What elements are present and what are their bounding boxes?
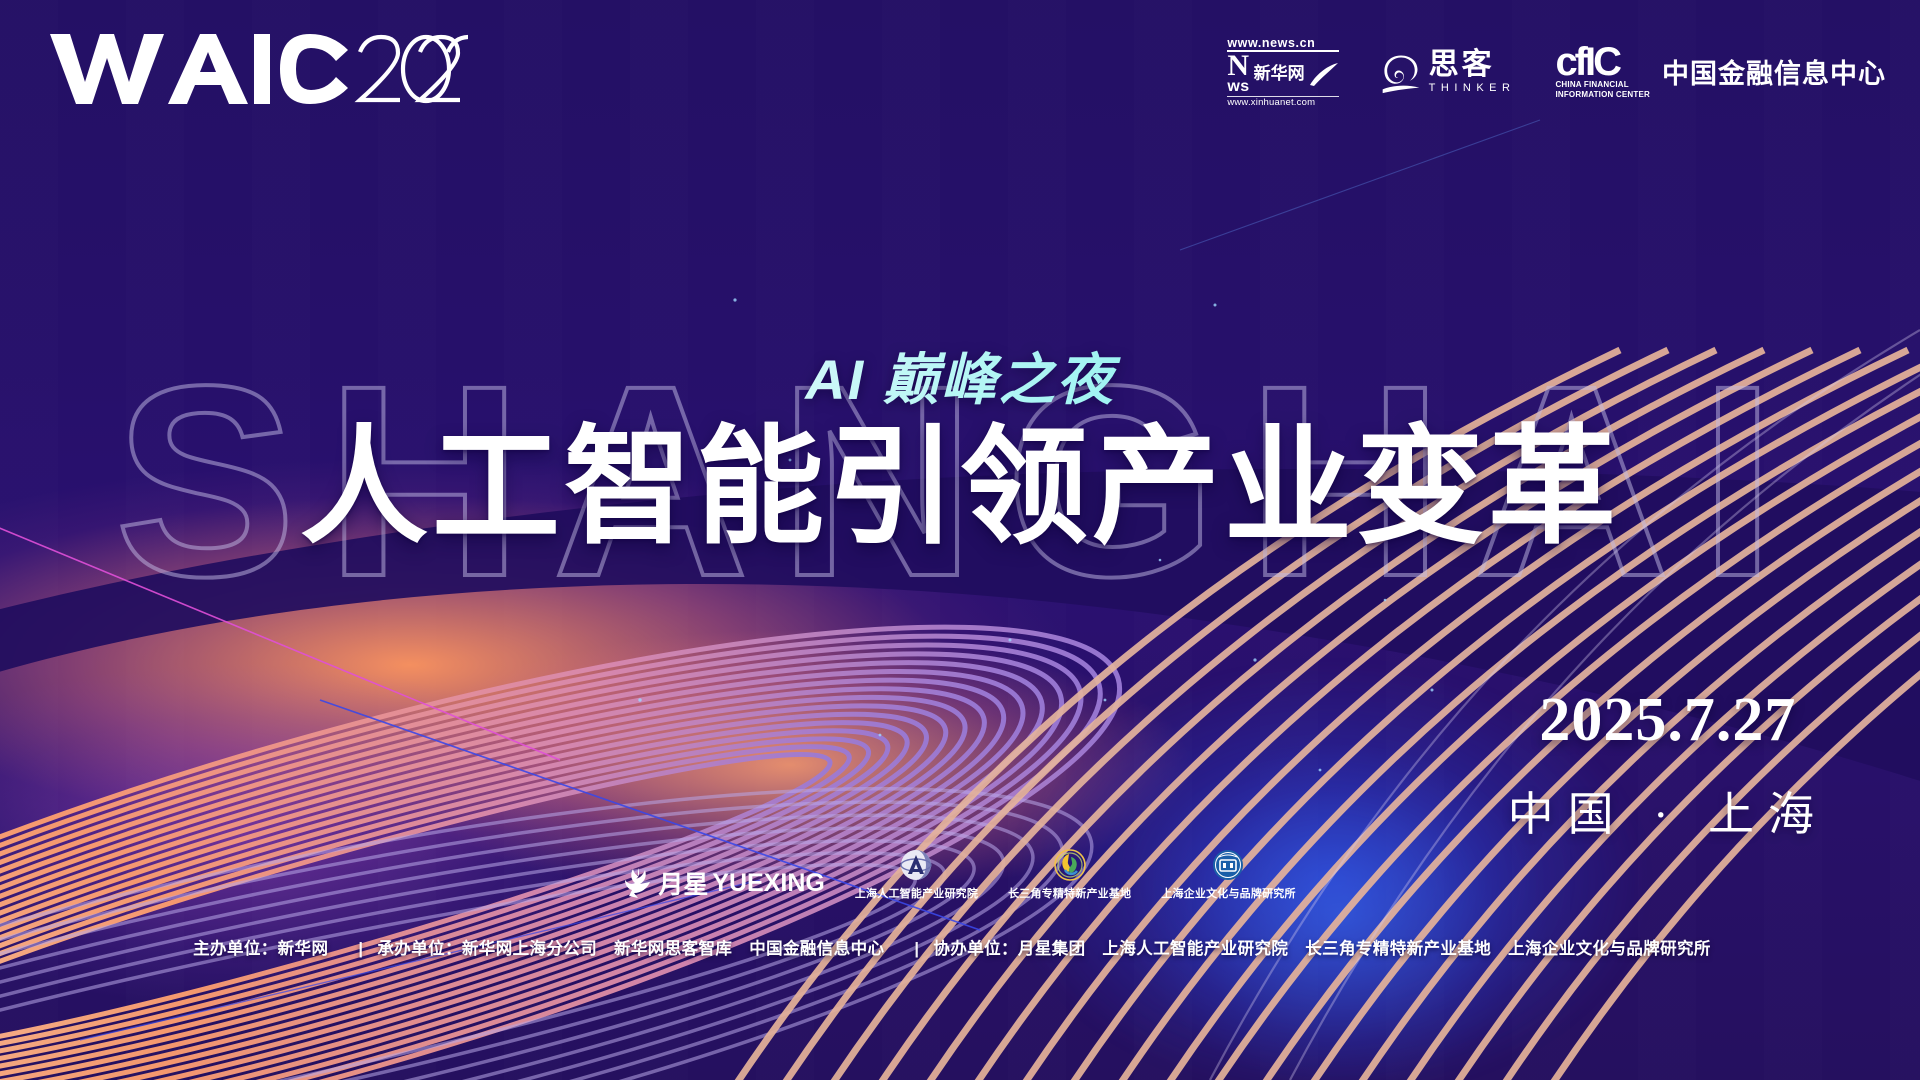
event-headline: 人工智能引领产业变革: [0, 420, 1920, 556]
xinhua-url-bottom: www.xinhuanet.com: [1227, 96, 1338, 108]
xinhua-letter-n: N: [1227, 53, 1249, 79]
credits-host-label: 主办单位：: [193, 940, 278, 958]
sponsor-label: 上海企业文化与品牌研究所: [1161, 885, 1295, 901]
yuexing-english-name: YUEXING: [712, 869, 825, 898]
partner-logo-xinhuanet: www.news.cn N ws 新华网 www.xinhuanet.com: [1227, 36, 1338, 108]
credits-host-value: 新华网: [278, 940, 329, 958]
cfic-english-line1: CHINA FINANCIAL: [1555, 81, 1650, 90]
xinhua-chinese-name: 新华网: [1254, 65, 1305, 82]
sponsor-shanghai-ai-institute: 上海人工智能产业研究院: [855, 848, 978, 901]
event-subtitle: AI 巅峰之夜: [0, 335, 1920, 416]
xinhua-letters-ws: ws: [1227, 79, 1249, 95]
cfic-chinese-name: 中国金融信息中心: [1662, 52, 1886, 91]
partner-logo-row: www.news.cn N ws 新华网 www.xinhuanet.com: [1227, 36, 1886, 108]
credits-host-group: 主办单位：新华网: [193, 940, 328, 958]
globe-a-icon: [899, 848, 933, 882]
credits-separator-2: |: [914, 940, 919, 958]
sponsor-label: 上海人工智能产业研究院: [855, 885, 978, 901]
thinker-chinese-name: 思客: [1429, 50, 1516, 80]
cfic-english-line2: INFORMATION CENTER: [1555, 91, 1650, 100]
event-location: 中国 · 上海: [1508, 778, 1828, 844]
credits-separator-1: |: [358, 940, 363, 958]
waic-logo: [48, 30, 468, 111]
xinhua-swoosh-icon: [1309, 61, 1339, 87]
yuexing-lockup: 月星 YUEXING: [624, 865, 825, 901]
blue-seal-icon: [1211, 848, 1245, 882]
sponsor-enterprise-culture-institute: 上海企业文化与品牌研究所: [1161, 848, 1295, 901]
puzzle-circle-icon: [1053, 848, 1087, 882]
credits-organizer-values: 新华网上海分公司 新华网思客智库 中国金融信息中心: [462, 940, 885, 958]
waic-2025-wordmark: [48, 30, 468, 106]
partner-logo-thinker: 思客 THINKER: [1379, 50, 1516, 94]
credits-coorganizer-group: 协办单位：月星集团 上海人工智能产业研究院 长三角专精特新产业基地 上海企业文化…: [933, 940, 1710, 958]
credits-organizer-label: 承办单位：: [377, 940, 462, 958]
credits-line: 主办单位：新华网|承办单位：新华网上海分公司 新华网思客智库 中国金融信息中心|…: [0, 935, 1920, 959]
credits-coorganizer-values: 月星集团 上海人工智能产业研究院 长三角专精特新产业基地 上海企业文化与品牌研究…: [1018, 940, 1711, 958]
sponsor-label: 长三角专精特新产业基地: [1008, 885, 1131, 901]
thinker-swirl-icon: [1379, 50, 1423, 94]
event-date: 2025.7.27: [1508, 685, 1828, 756]
sponsor-logo-strip: 月星 YUEXING 上海人工智能产业研究院 长三角专精特新产业基地: [0, 848, 1920, 901]
xinhua-url-top: www.news.cn: [1227, 36, 1338, 50]
yuexing-chinese-name: 月星: [658, 865, 708, 901]
thinker-english-name: THINKER: [1429, 82, 1516, 94]
yuexing-bird-icon: [624, 867, 654, 899]
credits-coorganizer-label: 协办单位：: [933, 940, 1018, 958]
partner-logo-cfic: cfIC CHINA FINANCIAL INFORMATION CENTER …: [1555, 44, 1886, 100]
sponsor-yangtze-delta-base: 长三角专精特新产业基地: [1008, 848, 1131, 901]
sponsor-yuexing: 月星 YUEXING: [624, 865, 825, 901]
poster-canvas: SHANGHAI: [0, 0, 1920, 1080]
xinhua-mark: N ws 新华网: [1227, 50, 1338, 95]
date-location-block: 2025.7.27 中国 · 上海: [1508, 685, 1828, 844]
cfic-abbreviation: cfIC: [1555, 44, 1650, 80]
credits-organizer-group: 承办单位：新华网上海分公司 新华网思客智库 中国金融信息中心: [377, 940, 884, 958]
